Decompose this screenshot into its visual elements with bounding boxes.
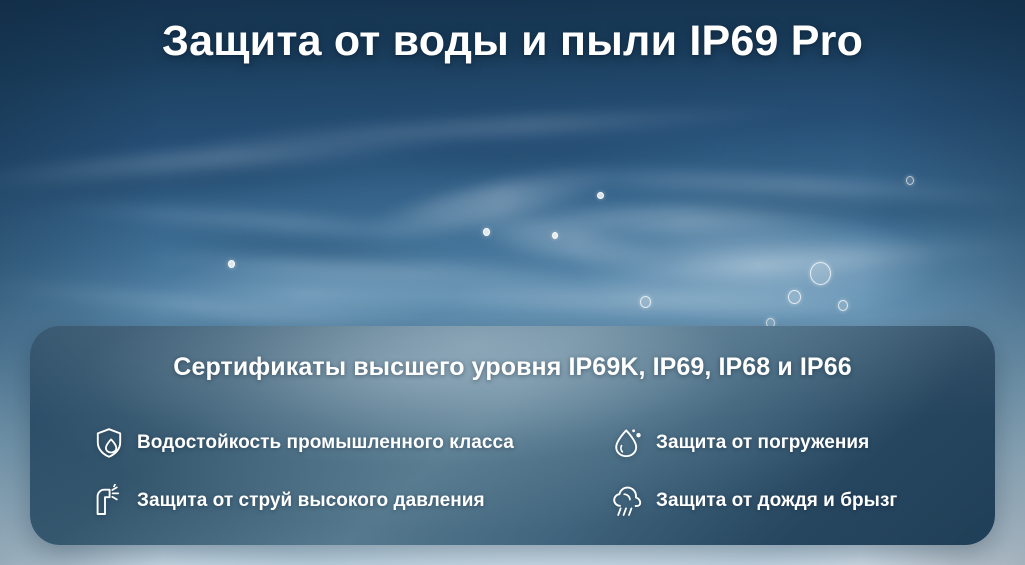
page-title: Защита от воды и пыли IP69 Pro [0, 17, 1025, 66]
spray-nozzle-icon [92, 484, 126, 518]
certifications-card: Сертификаты высшего уровня IP69K, IP69, … [30, 326, 995, 545]
shield-droplet-icon [92, 426, 126, 460]
water-droplet-icon [611, 426, 645, 460]
card-heading: Сертификаты высшего уровня IP69K, IP69, … [30, 353, 995, 382]
feature-label: Защита от дождя и брызг [656, 490, 897, 512]
feature-item-rain-splash: Защита от дождя и брызг [611, 484, 965, 518]
feature-grid: Водостойкость промышленного класса Защит… [92, 414, 965, 530]
feature-item-high-pressure-jets: Защита от струй высокого давления [92, 484, 611, 518]
feature-item-industrial-waterproof: Водостойкость промышленного класса [92, 426, 611, 460]
feature-label: Защита от струй высокого давления [137, 490, 485, 512]
ip69-pro-banner: Защита от воды и пыли IP69 Pro Сертифика… [0, 0, 1025, 565]
feature-label: Водостойкость промышленного класса [137, 432, 514, 454]
rain-cloud-icon [611, 484, 645, 518]
feature-item-immersion-protection: Защита от погружения [611, 426, 965, 460]
feature-label: Защита от погружения [656, 432, 869, 454]
